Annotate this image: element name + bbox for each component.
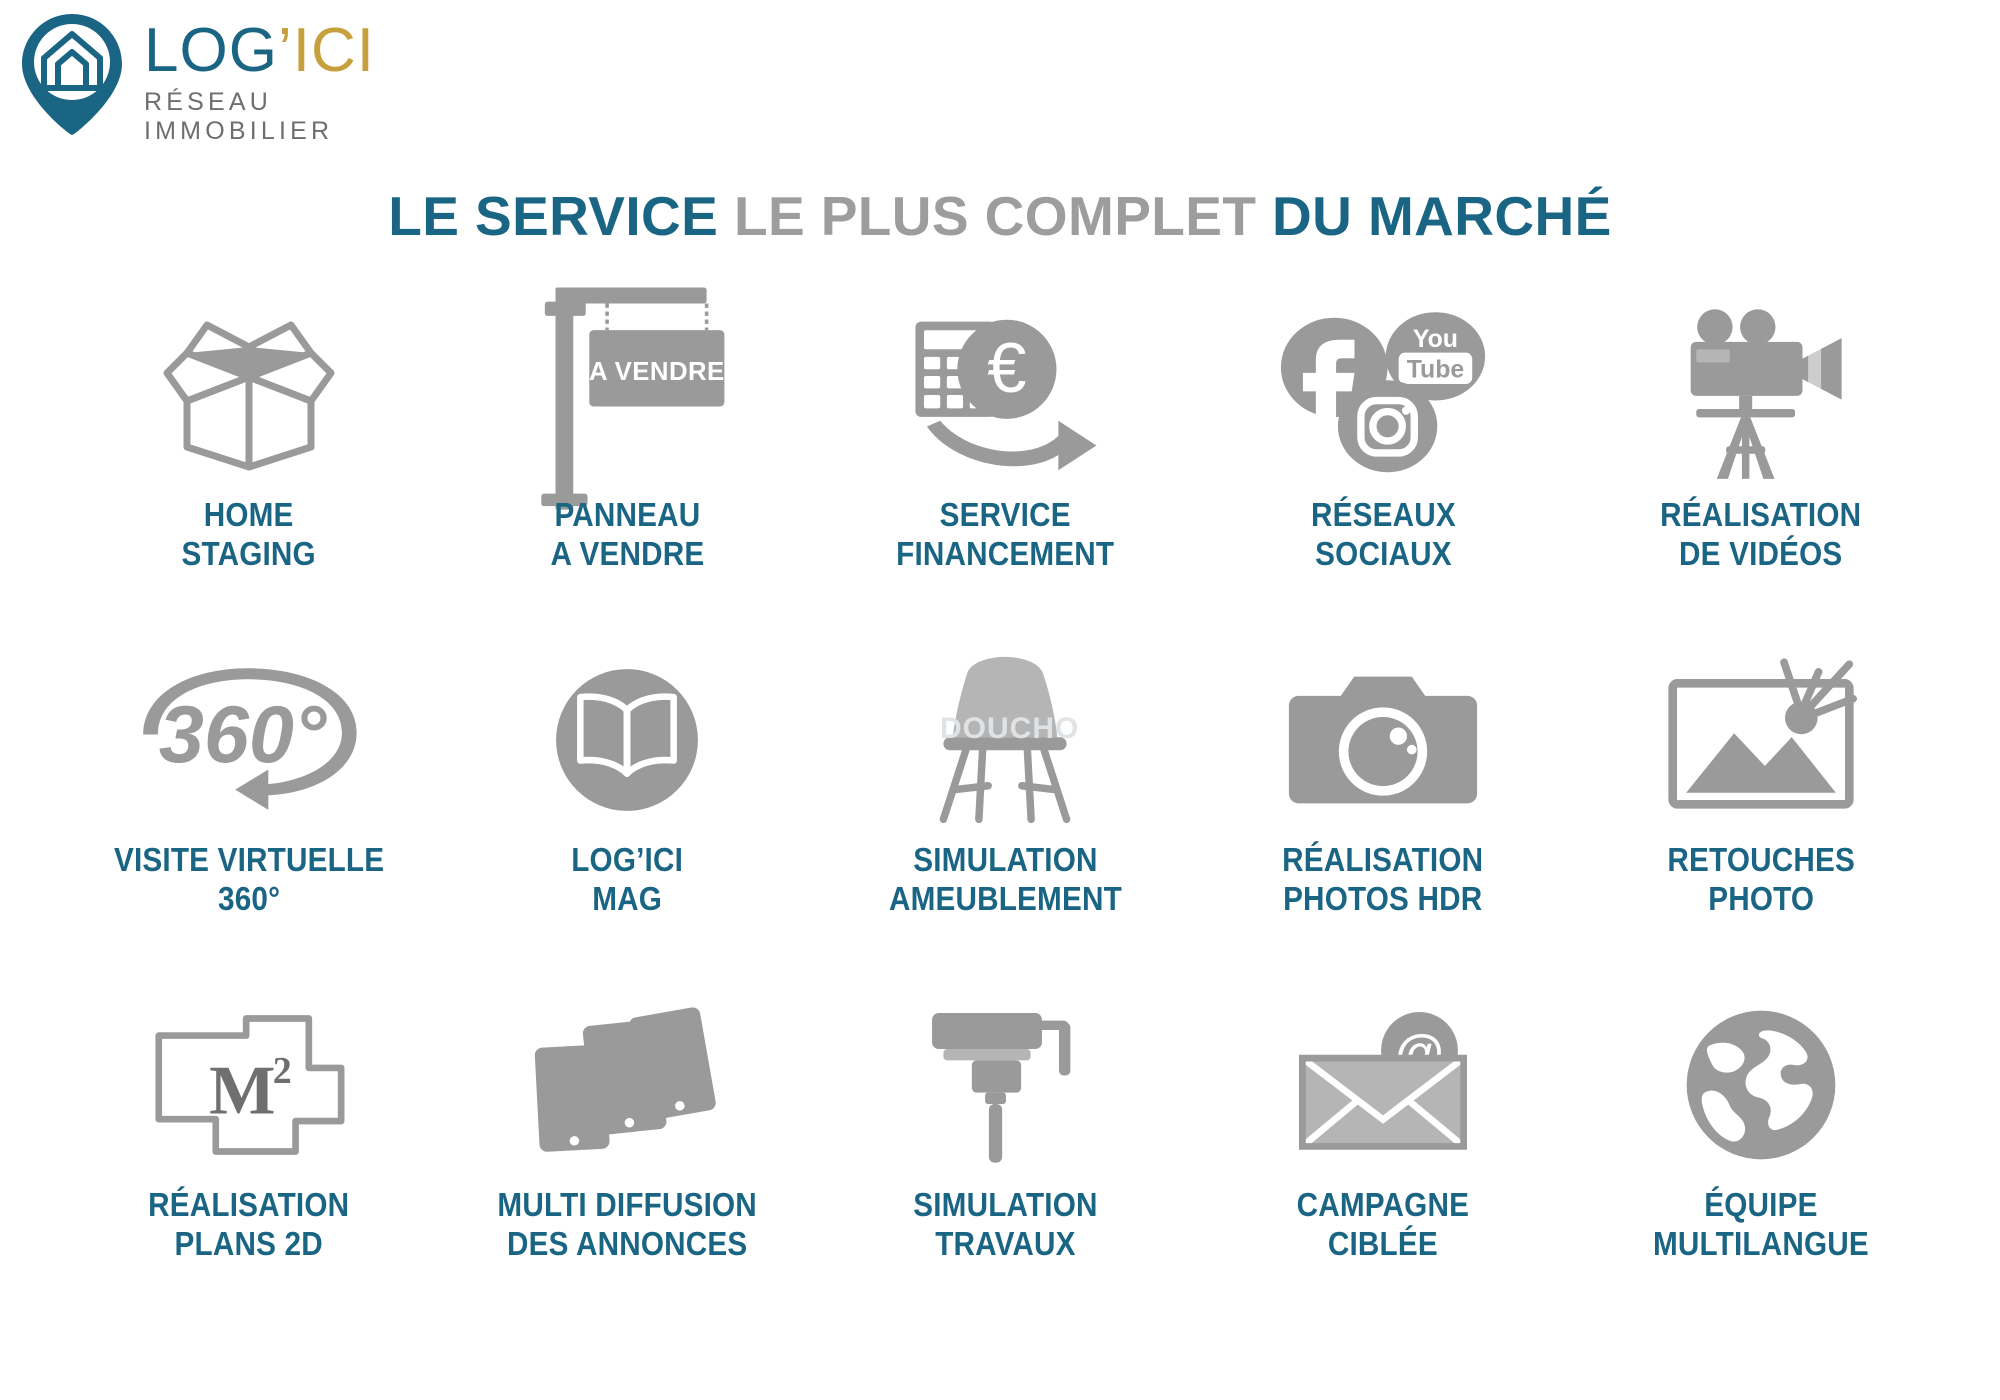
open-box-icon xyxy=(134,300,364,490)
social-networks-icon: You Tube xyxy=(1268,300,1498,490)
map-pin-house-icon xyxy=(18,12,126,136)
service-item-logici-mag[interactable]: LOG’ICI MAG xyxy=(438,645,816,990)
badge-360: 360° xyxy=(159,690,327,780)
sign-text: A VENDRE xyxy=(588,358,724,386)
slide-root: LOG’ICI RÉSEAU IMMOBILIER LE SERVICE LE … xyxy=(0,0,2000,1400)
service-label: VISITE VIRTUELLE 360° xyxy=(114,841,384,918)
open-book-icon xyxy=(512,645,742,835)
svg-text:€: € xyxy=(987,328,1026,407)
service-label: RÉSEAUX SOCIAUX xyxy=(1311,496,1456,573)
youtube-label-bottom: Tube xyxy=(1407,357,1464,384)
logo-wordmark: LOG’ICI xyxy=(144,20,448,82)
floorplan-m2-icon: M 2 xyxy=(134,990,364,1180)
service-label: HOME STAGING xyxy=(182,496,316,573)
service-item-panneau-a-vendre[interactable]: A VENDRE PANNEAU A VENDRE xyxy=(438,300,816,645)
photo-retouch-icon xyxy=(1646,645,1876,835)
logo-word-ici: ’ICI xyxy=(278,16,375,85)
service-item-realisation-plans-2d[interactable]: M 2 RÉALISATION PLANS 2D xyxy=(60,990,438,1335)
service-label: SIMULATION AMEUBLEMENT xyxy=(889,841,1122,918)
badge-m: M xyxy=(209,1052,275,1130)
service-label: PANNEAU A VENDRE xyxy=(550,496,704,573)
service-item-campagne-ciblee[interactable]: @ CAMPAGNE CIBLÉE xyxy=(1194,990,1572,1335)
service-item-realisation-de-videos[interactable]: RÉALISATION DE VIDÉOS xyxy=(1572,300,1950,645)
service-label: RÉALISATION PLANS 2D xyxy=(148,1186,349,1263)
service-item-equipe-multilangue[interactable]: ÉQUIPE MULTILANGUE xyxy=(1572,990,1950,1335)
service-item-simulation-travaux[interactable]: SIMULATION TRAVAUX xyxy=(816,990,1194,1335)
brand-logo: LOG’ICI RÉSEAU IMMOBILIER xyxy=(18,8,448,136)
service-item-reseaux-sociaux[interactable]: You Tube RÉSEAUX SOCIAUX xyxy=(1194,300,1572,645)
service-label: SERVICE FINANCEMENT xyxy=(896,496,1114,573)
paint-roller-icon xyxy=(890,990,1120,1180)
chair-icon xyxy=(890,645,1120,835)
email-envelope-at-icon: @ xyxy=(1268,990,1498,1180)
youtube-label-top: You xyxy=(1413,326,1458,353)
title-part-3: DU MARCHÉ xyxy=(1272,185,1612,247)
service-label: RÉALISATION PHOTOS HDR xyxy=(1282,841,1483,918)
service-label: MULTI DIFFUSION DES ANNONCES xyxy=(497,1186,757,1263)
service-item-simulation-ameublement[interactable]: SIMULATION AMEUBLEMENT xyxy=(816,645,1194,990)
service-item-realisation-photos-hdr[interactable]: RÉALISATION PHOTOS HDR xyxy=(1194,645,1572,990)
video-camera-tripod-icon xyxy=(1646,300,1876,490)
instagram-icon xyxy=(1338,380,1437,472)
logo-word-log: LOG xyxy=(144,16,278,85)
service-item-multi-diffusion[interactable]: MULTI DIFFUSION DES ANNONCES xyxy=(438,990,816,1335)
services-grid: HOME STAGING xyxy=(60,300,1950,1335)
title-part-2: LE PLUS COMPLET xyxy=(734,185,1272,247)
globe-icon xyxy=(1646,990,1876,1180)
360-degrees-icon: 360° xyxy=(134,645,364,835)
title-part-1: LE SERVICE xyxy=(388,185,734,247)
service-label: ÉQUIPE MULTILANGUE xyxy=(1653,1186,1869,1263)
photo-camera-icon xyxy=(1268,645,1498,835)
service-item-home-staging[interactable]: HOME STAGING xyxy=(60,300,438,645)
service-label: RETOUCHES PHOTO xyxy=(1667,841,1855,918)
service-label: SIMULATION TRAVAUX xyxy=(913,1186,1097,1263)
for-sale-sign-icon: A VENDRE xyxy=(512,300,742,490)
badge-sup: 2 xyxy=(273,1050,292,1092)
logo-subtitle: RÉSEAU IMMOBILIER xyxy=(144,88,448,146)
service-item-retouches-photo[interactable]: RETOUCHES PHOTO xyxy=(1572,645,1950,990)
service-item-service-financement[interactable]: € SERVICE FINANCEMENT xyxy=(816,300,1194,645)
service-label: CAMPAGNE CIBLÉE xyxy=(1297,1186,1469,1263)
service-label: RÉALISATION DE VIDÉOS xyxy=(1660,496,1861,573)
service-label: LOG’ICI MAG xyxy=(571,841,683,918)
service-item-visite-virtuelle-360[interactable]: 360° VISITE VIRTUELLE 360° xyxy=(60,645,438,990)
euro-calculator-arrow-icon: € xyxy=(890,300,1120,490)
page-title: LE SERVICE LE PLUS COMPLET DU MARCHÉ xyxy=(0,184,2000,248)
tablets-multi-device-icon xyxy=(512,990,742,1180)
